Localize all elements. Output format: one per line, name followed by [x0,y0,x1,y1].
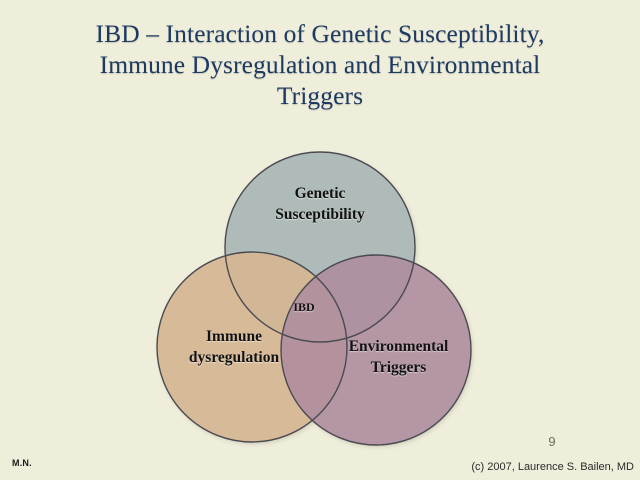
venn-svg [0,0,640,480]
author-initials: M.N. [12,458,32,468]
slide-number: 9 [540,434,564,449]
venn-fill-layer [157,152,471,445]
circle-environmental-triggers[interactable] [281,255,471,445]
venn-diagram: Genetic Susceptibility Immune dysregulat… [0,0,640,480]
copyright-notice: (c) 2007, Laurence S. Bailen, MD [360,461,634,473]
slide-canvas: IBD – Interaction of Genetic Susceptibil… [0,0,640,480]
